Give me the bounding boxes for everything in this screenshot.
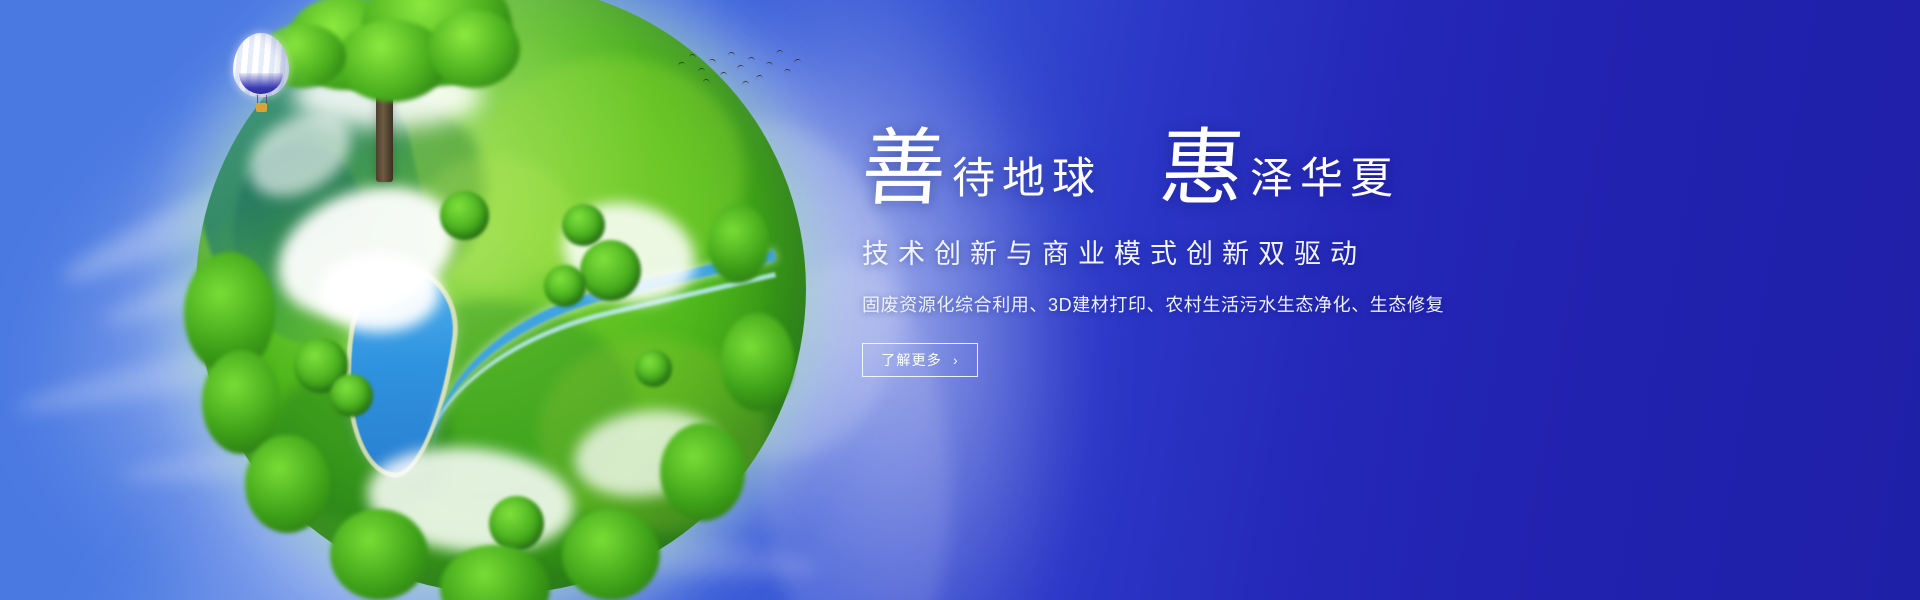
balloon-basket: [256, 103, 267, 112]
hero-tree: [258, 0, 518, 176]
learn-more-button[interactable]: 了解更多 ›: [862, 343, 978, 377]
globe-cloud: [318, 252, 440, 331]
rim-tree: [660, 423, 745, 521]
tree-clump: [330, 374, 373, 417]
bird-icon: [776, 49, 784, 54]
bird-icon: [766, 61, 774, 66]
bird-icon: [678, 61, 686, 66]
bird-icon: [703, 78, 711, 83]
hero-banner: 善 待地球 惠 泽华夏 技术创新与商业模式创新双驱动 固废资源化综合利用、3D建…: [0, 0, 1920, 600]
bird-icon: [689, 54, 696, 59]
headline-brush-char-2: 惠: [1157, 126, 1247, 210]
chevron-right-icon: ›: [953, 353, 959, 367]
rim-tree: [562, 509, 660, 600]
description: 固废资源化综合利用、3D建材打印、农村生活污水生态净化、生态修复: [862, 291, 1682, 317]
rim-tree: [245, 435, 330, 533]
headline-plain-text-1: 待地球: [952, 158, 1102, 201]
learn-more-label: 了解更多: [881, 353, 942, 367]
rim-tree: [708, 204, 769, 283]
bird-icon: [784, 69, 791, 74]
tree-clump: [440, 191, 489, 240]
tree-clump: [635, 350, 672, 387]
rim-tree: [721, 313, 794, 411]
headline-plain-text-2: 泽华夏: [1250, 158, 1400, 201]
rim-tree: [330, 509, 428, 600]
subtitle: 技术创新与商业模式创新双驱动: [862, 232, 1682, 271]
bird-icon: [728, 52, 735, 57]
tree-canopy: [428, 10, 520, 88]
bird-icon: [742, 81, 749, 86]
bird-icon: [794, 58, 802, 63]
bird-icon: [698, 68, 705, 73]
bird-icon: [748, 56, 756, 61]
bird-icon: [709, 58, 717, 64]
banner-copy: 善 待地球 惠 泽华夏 技术创新与商业模式创新双驱动 固废资源化综合利用、3D建…: [862, 126, 1682, 377]
bird-icon: [737, 64, 745, 70]
hot-air-balloon: [233, 33, 289, 119]
headline: 善 待地球 惠 泽华夏: [862, 126, 1682, 210]
tree-clump: [489, 496, 544, 551]
bird-icon: [756, 75, 763, 80]
bird-icon: [720, 71, 728, 76]
headline-brush-char-1: 善: [859, 126, 949, 210]
bird-flock: [676, 48, 806, 92]
tree-clump: [562, 204, 605, 247]
